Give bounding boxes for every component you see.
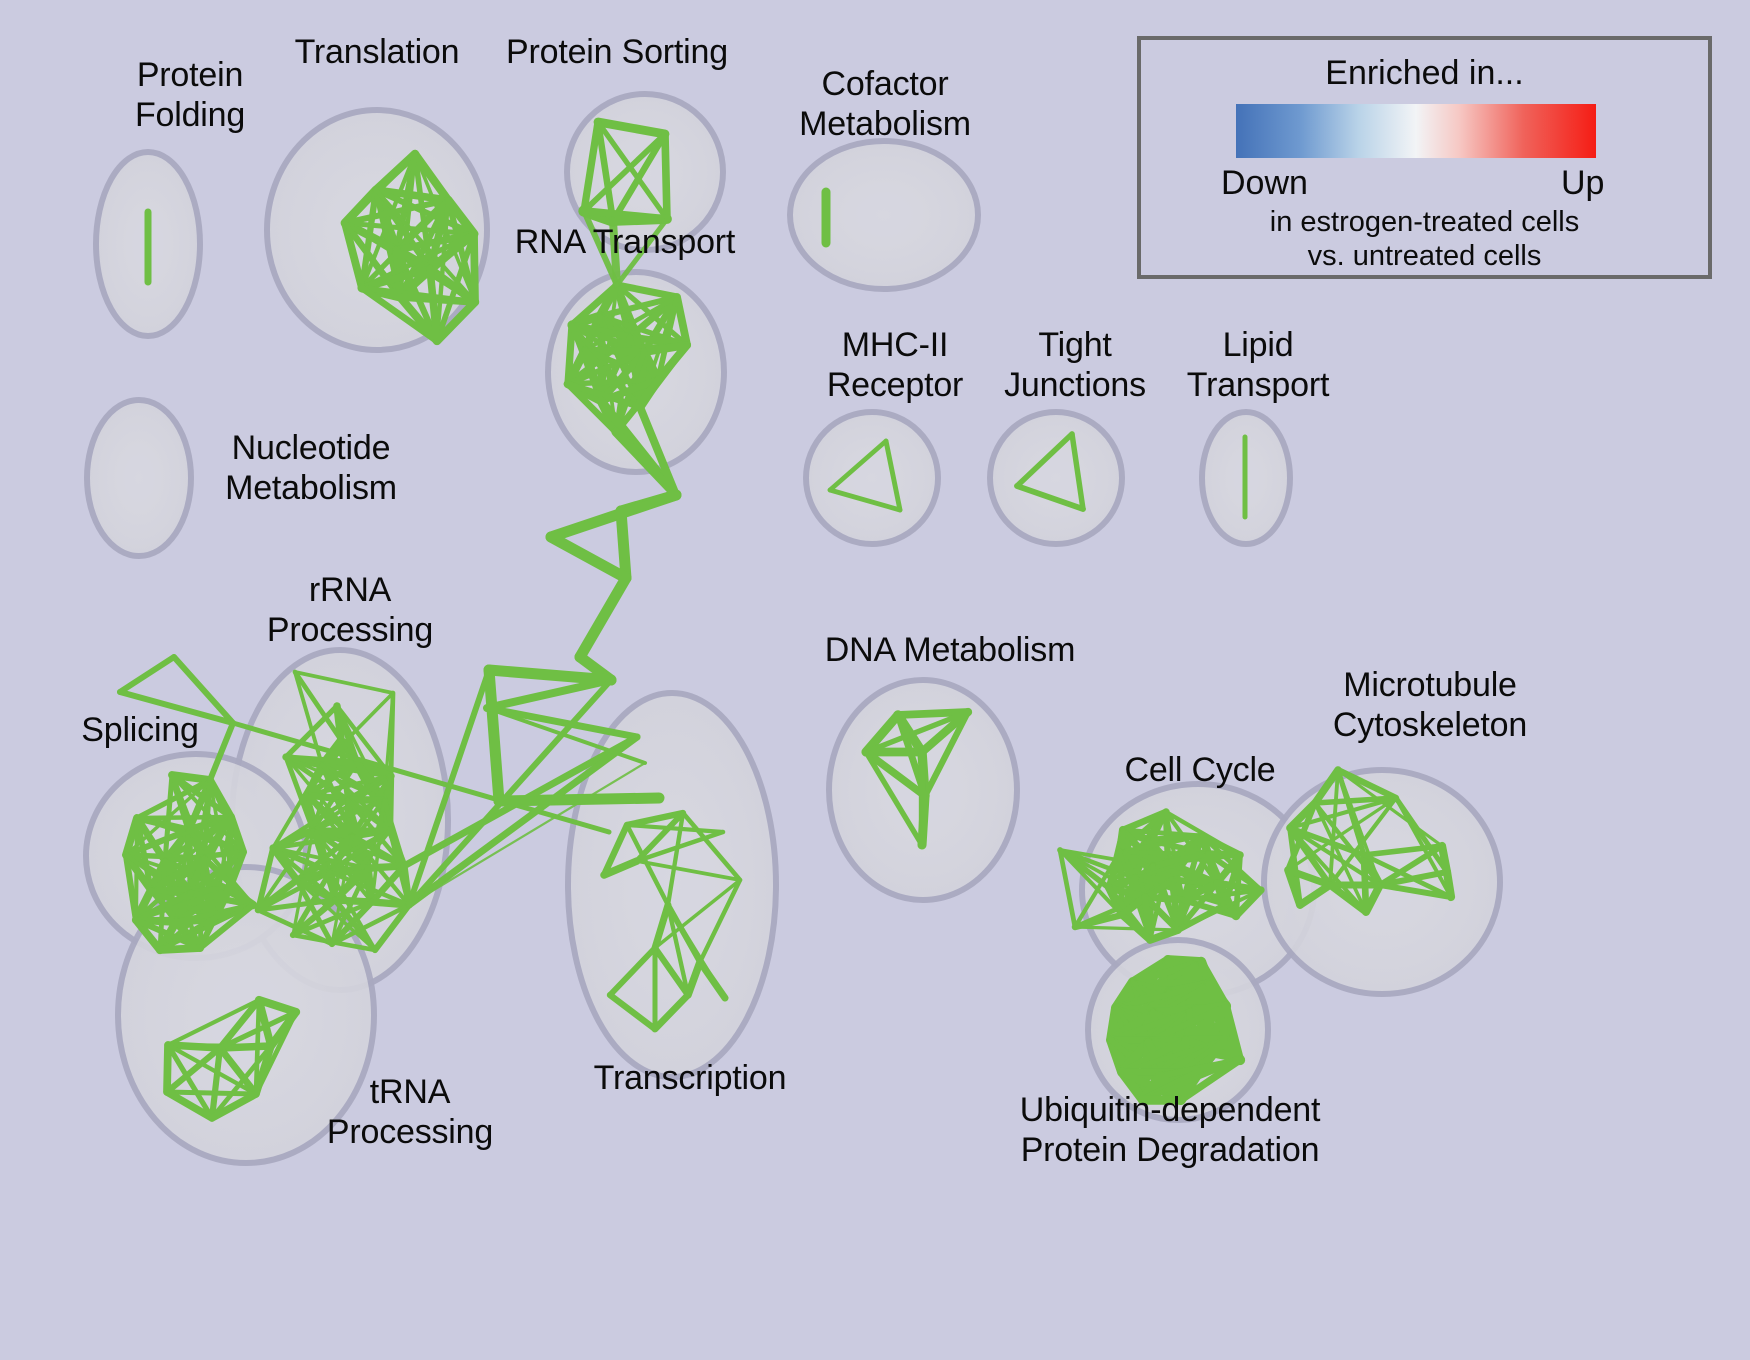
cluster-hull-mhc-ii-receptor: [806, 412, 938, 544]
network-edge: [335, 900, 372, 902]
network-edge: [1447, 872, 1451, 897]
legend-color-bar: [1236, 104, 1596, 158]
network-edge: [160, 948, 200, 950]
legend-subtitle-line2: vs. untreated cells: [1141, 240, 1708, 273]
network-edge: [665, 134, 667, 219]
network-edge: [499, 798, 659, 801]
cluster-label-trna-processing: tRNA Processing: [310, 1072, 510, 1152]
network-edge: [1120, 852, 1208, 854]
cluster-hull-tight-junctions: [990, 412, 1122, 544]
cluster-hull-cofactor-metabolism: [790, 141, 978, 289]
network-edge: [580, 578, 626, 657]
cluster-label-cofactor-metabolism: Cofactor Metabolism: [770, 64, 1000, 144]
legend-title: Enriched in...: [1141, 54, 1708, 93]
cluster-label-cell-cycle: Cell Cycle: [1100, 750, 1300, 790]
network-edge: [489, 670, 499, 801]
cluster-label-lipid-transport: Lipid Transport: [1158, 325, 1358, 405]
cluster-label-dna-metabolism: DNA Metabolism: [810, 630, 1090, 670]
cluster-hull-nucleotide-metabolism: [87, 400, 191, 556]
legend-subtitle-line1: in estrogen-treated cells: [1141, 206, 1708, 239]
network-edge: [474, 234, 475, 302]
cluster-label-rrna-processing: rRNA Processing: [250, 570, 450, 650]
network-edge: [922, 796, 925, 845]
cluster-label-tight-junctions: Tight Junctions: [975, 325, 1175, 405]
network-edge: [551, 495, 676, 537]
network-edge: [551, 537, 626, 578]
cluster-label-splicing: Splicing: [60, 710, 220, 750]
legend-panel: Enriched in... Down Up in estrogen-treat…: [1137, 36, 1712, 279]
network-edge: [167, 1092, 256, 1094]
cluster-label-mhc-ii-receptor: MHC-II Receptor: [795, 325, 995, 405]
cluster-label-microtubule-cytoskeleton: Microtubule Cytoskeleton: [1300, 665, 1560, 745]
network-edge: [400, 297, 475, 302]
cluster-label-translation: Translation: [262, 32, 492, 72]
cluster-label-ubiquitin-protein-degradation: Ubiquitin-dependent Protein Degradation: [960, 1090, 1380, 1170]
cluster-label-nucleotide-metabolism: Nucleotide Metabolism: [196, 428, 426, 508]
cluster-label-protein-sorting: Protein Sorting: [487, 32, 747, 72]
cluster-label-transcription: Transcription: [570, 1058, 810, 1098]
network-edge: [621, 511, 626, 578]
network-edge: [167, 1045, 168, 1092]
network-edge: [372, 902, 409, 905]
legend-down-label: Down: [1221, 164, 1308, 203]
cluster-label-rna-transport: RNA Transport: [500, 222, 750, 262]
network-edge: [368, 868, 372, 902]
network-canvas: Protein FoldingTranslationProtein Sortin…: [0, 0, 1750, 1360]
network-edge: [613, 219, 667, 221]
network-edge: [120, 657, 174, 692]
legend-up-label: Up: [1561, 164, 1604, 203]
